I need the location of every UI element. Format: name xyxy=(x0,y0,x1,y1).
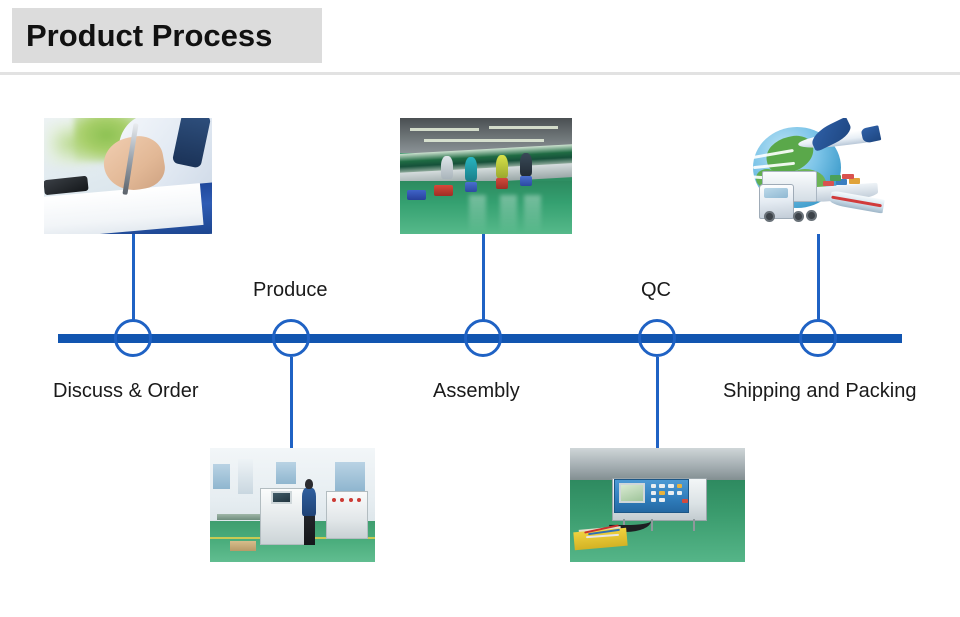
process-image-assembly xyxy=(400,118,572,234)
timeline-label-discuss-order: Discuss & Order xyxy=(53,381,199,401)
timeline-node-discuss-order[interactable] xyxy=(114,319,152,357)
connector-assembly xyxy=(482,234,485,320)
header-divider xyxy=(0,72,960,75)
timeline-node-assembly[interactable] xyxy=(464,319,502,357)
timeline-label-qc: QC xyxy=(641,280,671,300)
page-title: Product Process xyxy=(26,20,272,51)
timeline-node-produce[interactable] xyxy=(272,319,310,357)
process-image-discuss-order xyxy=(44,118,212,234)
process-image-produce xyxy=(210,448,375,562)
process-image-qc xyxy=(570,448,745,562)
timeline-node-qc[interactable] xyxy=(638,319,676,357)
connector-produce xyxy=(290,357,293,449)
process-image-shipping xyxy=(740,118,900,234)
product-process-slide: Product Process xyxy=(0,0,960,617)
page-title-box: Product Process xyxy=(12,8,322,63)
timeline-label-shipping: Shipping and Packing xyxy=(723,381,916,401)
connector-discuss-order xyxy=(132,234,135,320)
timeline-label-produce: Produce xyxy=(253,280,328,300)
timeline-label-assembly: Assembly xyxy=(433,381,520,401)
connector-shipping xyxy=(817,234,820,320)
timeline-node-shipping[interactable] xyxy=(799,319,837,357)
connector-qc xyxy=(656,357,659,449)
